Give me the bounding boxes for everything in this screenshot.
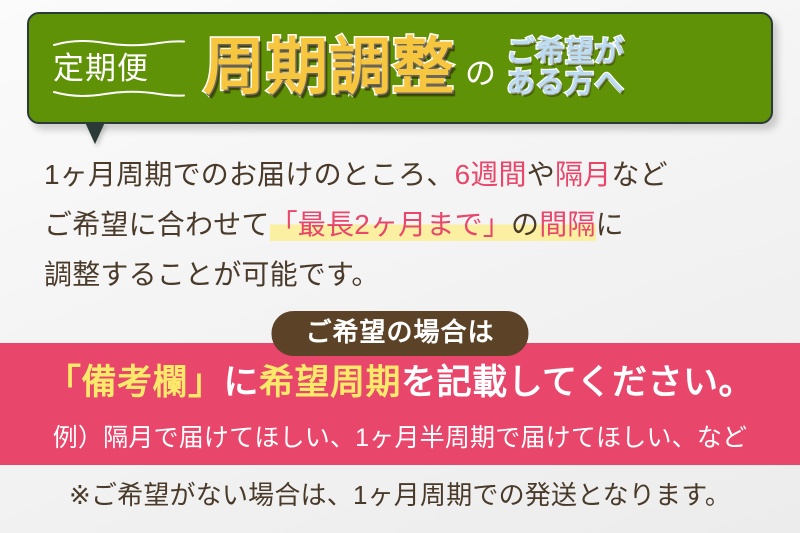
header-title: 周期調整 [203,37,455,99]
header-aside-line2: ある方へ [506,68,624,99]
body-line1-text3: など [611,159,667,190]
subscription-badge: 定期便 [49,29,189,108]
footnote-text: ※ご希望がない場合は、1ヶ月周期での発送となります。 [0,480,800,511]
body-line-1: 1ヶ月周期でのお届けのところ、6週間や隔月など [44,150,774,200]
body-line2-text2: の [511,209,539,241]
band-headline-text2: を記載してください。 [401,363,754,402]
header-speech-bubble: 定期便 周期調整 の ご希望が ある方へ [27,12,773,124]
wavy-rule-bottom-icon [53,89,185,98]
wavy-rule-top-icon [53,39,185,48]
header-aside-line1: ご希望が [506,36,624,68]
body-line-2: ご希望に合わせて「最長2ヶ月まで」の間隔に [44,200,774,250]
band-headline-emphasis-2: 希望周期 [259,363,401,402]
promo-banner: 定期便 周期調整 の ご希望が ある方へ 1ヶ月周期でのお届けのところ、6週間や… [0,0,800,533]
body-line2-highlighted-emphasis: 「最長2ヶ月まで」 [270,209,511,241]
body-line1-emphasis-1: 6週間 [455,159,527,190]
body-line-3: 調整することが可能です。 [44,250,774,300]
body-line2-emphasis-2: 間隔 [539,209,595,241]
request-case-badge: ご希望の場合は [271,311,528,356]
band-headline-text1: に [224,363,260,402]
band-headline-emphasis-1: 「備考欄」 [46,363,224,402]
body-line2-text3: に [596,209,624,240]
body-line2-text1: ご希望に合わせて [44,209,270,240]
body-line1-emphasis-2: 隔月 [555,159,611,190]
header-aside-text: ご希望が ある方へ [506,37,624,100]
band-example-text: 例）隔月で届けてほしい、1ヶ月半周期で届けてほしい、など [0,424,800,453]
speech-bubble-tail-icon [85,122,105,144]
band-headline: 「備考欄」に希望周期を記載してください。 [0,364,800,403]
subscription-badge-label: 定期便 [53,53,185,84]
body-line1-text2: や [527,159,555,190]
body-paragraph: 1ヶ月周期でのお届けのところ、6週間や隔月など ご希望に合わせて「最長2ヶ月まで… [44,150,774,300]
body-line1-text1: 1ヶ月周期でのお届けのところ、 [44,159,455,190]
header-title-particle: の [465,58,496,89]
